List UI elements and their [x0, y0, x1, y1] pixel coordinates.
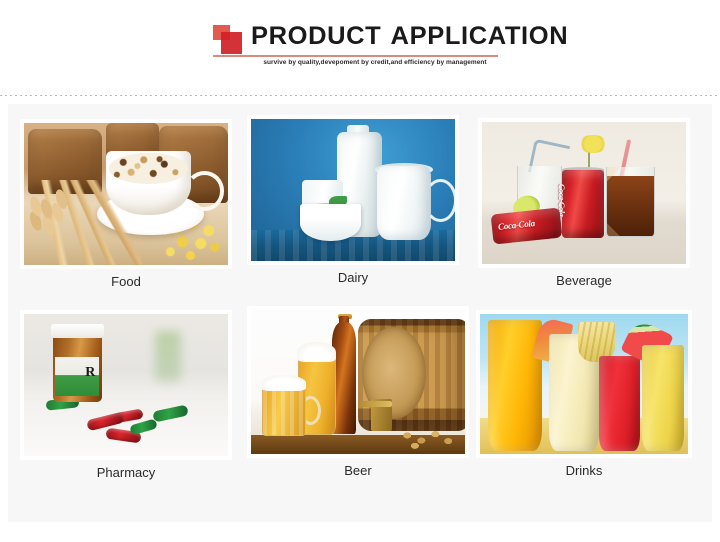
title-underline-rule [213, 55, 498, 57]
beverage-thumbnail[interactable]: Coca-Cola Coca-Cola [478, 118, 690, 268]
ice-cubes-icon [607, 167, 654, 235]
pharmacy-image: R [24, 314, 228, 456]
cereal-bowl-icon [300, 204, 361, 241]
milk-jug-icon [377, 166, 430, 240]
caption-drinks: Drinks [476, 463, 692, 478]
cup-handle-icon [185, 171, 224, 210]
grid-item-beer[interactable]: Beer [247, 306, 469, 476]
yellow-juice-glass-icon [642, 345, 684, 451]
cola-can-upright-icon [562, 170, 605, 238]
content-panel: Food Dairy [8, 104, 712, 522]
beer-mug-icon [262, 385, 307, 436]
bottle-label-mark: R [85, 365, 95, 381]
page-title: PRODUCTAPPLICATION [251, 22, 568, 51]
caption-beverage: Beverage [478, 273, 690, 288]
food-image [24, 123, 228, 265]
barley-grain-icon [397, 425, 461, 451]
grid-item-pharmacy[interactable]: R Pharmacy [20, 310, 232, 480]
beer-mug-foam-icon [261, 375, 306, 391]
caption-beer: Beer [247, 463, 469, 478]
logo-square-dark [221, 32, 242, 54]
caption-food: Food [20, 274, 232, 289]
grid-item-food[interactable]: Food [20, 119, 232, 289]
page-subtitle: survive by quality,devepoment by credit,… [252, 59, 498, 66]
drinks-image [480, 314, 688, 454]
wheat-stalks-icon [24, 180, 142, 265]
grid-item-beverage[interactable]: Coca-Cola Coca-Cola Beverage [478, 118, 690, 288]
product-application-grid: Food Dairy [8, 104, 712, 522]
milk-jug-handle-icon [424, 179, 455, 222]
barrel-tap-icon [371, 399, 392, 431]
drinks-thumbnail[interactable] [476, 310, 692, 458]
beer-foam-icon [297, 342, 336, 362]
beverage-image: Coca-Cola Coca-Cola [482, 122, 686, 264]
page-title-word-2: APPLICATION [391, 22, 569, 50]
caption-pharmacy: Pharmacy [20, 465, 232, 480]
brand-logo-block: PRODUCTAPPLICATION survive by quality,de… [213, 22, 503, 72]
grid-item-drinks[interactable]: Drinks [476, 310, 692, 480]
food-thumbnail[interactable] [20, 119, 232, 269]
header-dotted-divider [0, 95, 720, 96]
page-title-word-1: PRODUCT [251, 22, 381, 50]
two-red-squares-logo-icon [213, 25, 247, 55]
dairy-thumbnail[interactable] [247, 115, 459, 265]
dairy-image [251, 119, 455, 261]
pharmacy-thumbnail[interactable]: R [20, 310, 232, 460]
beer-thumbnail[interactable] [247, 306, 469, 458]
caption-dairy: Dairy [247, 270, 459, 285]
grid-item-dairy[interactable]: Dairy [247, 115, 459, 285]
orange-juice-glass-icon [488, 320, 542, 452]
bottle-cap-icon [51, 324, 104, 338]
background-blur-object [155, 331, 182, 382]
red-juice-glass-icon [599, 356, 641, 451]
beer-image [251, 310, 465, 454]
page-header: PRODUCTAPPLICATION survive by quality,de… [0, 0, 720, 96]
iced-cola-glass-icon [606, 167, 655, 236]
